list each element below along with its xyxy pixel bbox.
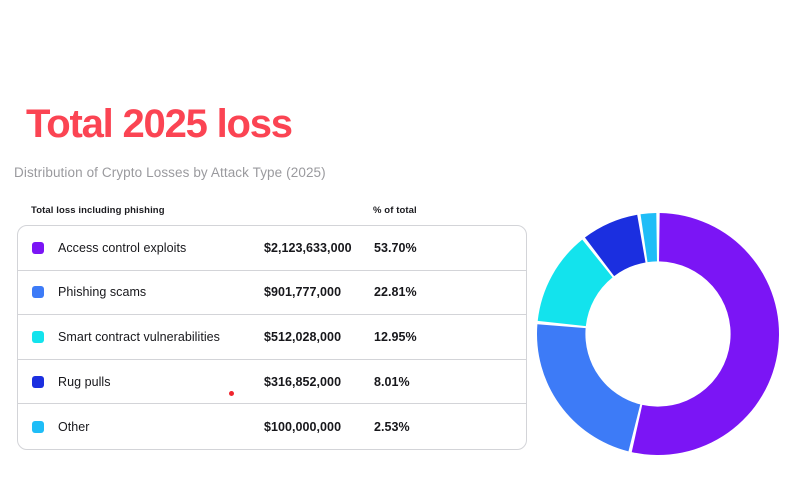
table-column-headers: Total loss including phishing % of total (17, 205, 527, 225)
donut-chart-svg (537, 213, 779, 455)
row-value: $2,123,633,000 (264, 241, 374, 255)
row-label: Phishing scams (58, 285, 264, 299)
row-value: $316,852,000 (264, 375, 374, 389)
table-row[interactable]: Smart contract vulnerabilities $512,028,… (18, 315, 526, 360)
loss-breakdown-table: Total loss including phishing % of total… (17, 205, 527, 450)
row-value: $100,000,000 (264, 420, 374, 434)
column-header-percent: % of total (373, 205, 513, 216)
table-row[interactable]: Access control exploits $2,123,633,000 5… (18, 226, 526, 271)
row-value: $901,777,000 (264, 285, 374, 299)
table-row[interactable]: Other $100,000,000 2.53% (18, 404, 526, 449)
table-card: Access control exploits $2,123,633,000 5… (17, 225, 527, 450)
chart-subtitle: Distribution of Crypto Losses by Attack … (14, 165, 326, 180)
legend-swatch-icon (32, 242, 44, 254)
donut-slice[interactable] (537, 324, 640, 451)
legend-swatch-icon (32, 376, 44, 388)
row-label: Other (58, 420, 264, 434)
row-value: $512,028,000 (264, 330, 374, 344)
cursor-dot (229, 391, 234, 396)
row-label: Access control exploits (58, 241, 264, 255)
table-row[interactable]: Phishing scams $901,777,000 22.81% (18, 271, 526, 316)
row-label: Rug pulls (58, 375, 264, 389)
row-percent: 12.95% (374, 330, 512, 344)
row-percent: 22.81% (374, 285, 512, 299)
row-percent: 2.53% (374, 420, 512, 434)
legend-swatch-icon (32, 286, 44, 298)
donut-chart (537, 213, 779, 455)
row-percent: 8.01% (374, 375, 512, 389)
headline-label: Total 2025 loss (26, 101, 292, 147)
legend-swatch-icon (32, 331, 44, 343)
legend-swatch-icon (32, 421, 44, 433)
row-percent: 53.70% (374, 241, 512, 255)
row-label: Smart contract vulnerabilities (58, 330, 264, 344)
column-header-label: Total loss including phishing (31, 205, 263, 216)
table-row[interactable]: Rug pulls $316,852,000 8.01% (18, 360, 526, 405)
